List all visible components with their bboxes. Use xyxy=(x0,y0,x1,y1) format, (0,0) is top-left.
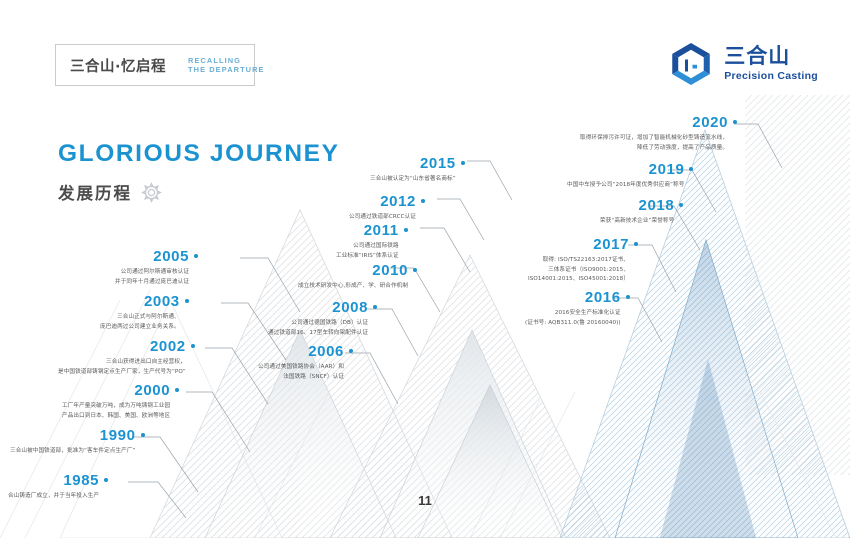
timeline-entry-2019[interactable]: 2019 中国中车授予公司“2018年度优秀供应商”称号 xyxy=(567,162,693,191)
timeline-marker-dot xyxy=(679,203,683,207)
timeline-description: 工厂年产量突破万吨，成为万吨铸钢工业园 产品出口到日本、韩国、美国、欧洲等地区 xyxy=(62,402,170,422)
badge-en-line1: RECALLING xyxy=(188,56,265,65)
timeline-entry-2006[interactable]: 2006 公司通过美国铁路协会（AAR）和 法国铁路（SNCF）认证 xyxy=(258,344,353,382)
page-title-en: GLORIOUS JOURNEY xyxy=(58,140,340,168)
timeline-body: 2017 取得: ISO/TS22163:2017证书、 三体系证书（ISO90… xyxy=(528,237,629,285)
timeline-marker-dot xyxy=(191,344,195,348)
timeline-description: 三合山正式与阿尔斯通、 庞巴迪两过公司建立业务关系。 xyxy=(100,313,180,333)
timeline-marker-dot xyxy=(626,295,630,299)
timeline-description: 2016安全生产标准化认证 (证书号: AQB311.0(鲁 20160040)… xyxy=(525,309,621,329)
timeline-description-line: 三合山获得进出口自主经营权， xyxy=(58,358,186,368)
timeline-entry-2015[interactable]: 2015 三合山被认定为“山东省著名商标” xyxy=(370,156,465,185)
timeline-description-line: 成立技术研发中心,形成产、学、研合作机制 xyxy=(298,282,408,292)
timeline-body: 2016 2016安全生产标准化认证 (证书号: AQB311.0(鲁 2016… xyxy=(525,290,621,328)
timeline-body: 2008 公司通过德国铁路（DB）认证 通过铁道部16、17型车转向架配件认证 xyxy=(268,300,368,338)
badge-title-en: RECALLING THE DEPARTURE xyxy=(188,56,265,75)
timeline-body: 2012 公司通过铁道部CRCC认证 xyxy=(349,194,416,223)
timeline-description-line: 庞巴迪两过公司建立业务关系。 xyxy=(100,323,180,333)
timeline-description-line: 通过铁道部16、17型车转向架配件认证 xyxy=(268,329,368,339)
timeline-body: 2000 工厂年产量突破万吨，成为万吨铸钢工业园 产品出口到日本、韩国、美国、欧… xyxy=(62,383,170,421)
timeline-description: 公司通过国际铁路 工业标准“IRIS”体系认证 xyxy=(336,242,399,262)
timeline-marker-dot xyxy=(141,433,145,437)
timeline-description-line: 三合山被认定为“山东省著名商标” xyxy=(370,175,456,185)
timeline-year: 2003 xyxy=(144,294,180,310)
timeline-body: 2010 成立技术研发中心,形成产、学、研合作机制 xyxy=(298,263,408,292)
timeline-year: 2016 xyxy=(585,290,621,306)
timeline-body: 2011 公司通过国际铁路 工业标准“IRIS”体系认证 xyxy=(336,223,399,261)
timeline-marker-dot xyxy=(349,349,353,353)
timeline-description-line: 法国铁路（SNCF）认证 xyxy=(258,373,344,383)
timeline-year: 2006 xyxy=(308,344,344,360)
timeline-description-line: 取得: ISO/TS22163:2017证书、 xyxy=(528,256,629,266)
timeline-marker-dot xyxy=(373,305,377,309)
logo-name-cn: 三合山 xyxy=(724,46,818,67)
timeline-marker-dot xyxy=(194,254,198,258)
timeline-entry-1990[interactable]: 1990 三合山被中国铁道部，批准为“客车件定点生产厂” xyxy=(10,428,145,457)
timeline-description: 取得: ISO/TS22163:2017证书、 三体系证书（ISO9001:20… xyxy=(528,256,629,285)
timeline-body: 2006 公司通过美国铁路协会（AAR）和 法国铁路（SNCF）认证 xyxy=(258,344,344,382)
timeline-entry-2016[interactable]: 2016 2016安全生产标准化认证 (证书号: AQB311.0(鲁 2016… xyxy=(525,290,630,328)
timeline-entry-2011[interactable]: 2011 公司通过国际铁路 工业标准“IRIS”体系认证 xyxy=(336,223,408,261)
sanheshan-cube-logo-icon xyxy=(667,40,715,88)
timeline-description: 三合山被认定为“山东省著名商标” xyxy=(370,175,456,185)
timeline-description-line: 产品出口到日本、韩国、美国、欧洲等地区 xyxy=(62,412,170,422)
logo-name-en: Precision Casting xyxy=(724,71,818,82)
timeline-year: 2002 xyxy=(150,339,186,355)
timeline-description: 三合山被中国铁道部，批准为“客车件定点生产厂” xyxy=(10,447,136,457)
timeline-description-line: 公司通过德国铁路（DB）认证 xyxy=(268,319,368,329)
timeline-body: 1990 三合山被中国铁道部，批准为“客车件定点生产厂” xyxy=(10,428,136,457)
timeline-description-line: 公司通过国际铁路 xyxy=(336,242,399,252)
slide-page: 三合山·忆启程 RECALLING THE DEPARTURE 三合山 Prec… xyxy=(0,0,850,538)
timeline-year: 2012 xyxy=(380,194,416,210)
timeline-description-line: 荣获“高新技术企业”荣誉称号 xyxy=(600,217,674,227)
timeline-marker-dot xyxy=(175,388,179,392)
badge-en-line2: THE DEPARTURE xyxy=(188,65,265,74)
timeline-body: 2019 中国中车授予公司“2018年度优秀供应商”称号 xyxy=(567,162,684,191)
timeline-year: 1985 xyxy=(63,473,99,489)
timeline-marker-dot xyxy=(634,242,638,246)
timeline-description: 公司通过铁道部CRCC认证 xyxy=(349,213,416,223)
timeline-description-line: 降低了劳动强度，提高了产品质量。 xyxy=(580,144,728,154)
timeline-description-line: 三合山被中国铁道部，批准为“客车件定点生产厂” xyxy=(10,447,136,457)
timeline-year: 2015 xyxy=(420,156,456,172)
timeline-body: 2015 三合山被认定为“山东省著名商标” xyxy=(370,156,456,185)
timeline-description: 荣获“高新技术企业”荣誉称号 xyxy=(600,217,674,227)
timeline-year: 2020 xyxy=(692,115,728,131)
timeline-description-line: (证书号: AQB311.0(鲁 20160040)) xyxy=(525,319,621,329)
timeline-marker-dot xyxy=(185,299,189,303)
timeline-description: 公司通过阿尔斯通审核认证 并于同年十月通过庞巴迪认证 xyxy=(115,268,189,288)
company-logo: 三合山 Precision Casting xyxy=(667,40,818,88)
timeline-description-line: 2016安全生产标准化认证 xyxy=(525,309,621,319)
timeline-description: 中国中车授予公司“2018年度优秀供应商”称号 xyxy=(567,181,684,191)
timeline-description-line: 中国中车授予公司“2018年度优秀供应商”称号 xyxy=(567,181,684,191)
timeline-description-line: 公司通过阿尔斯通审核认证 xyxy=(115,268,189,278)
gear-icon xyxy=(140,181,163,204)
timeline-marker-dot xyxy=(461,161,465,165)
timeline-description-line: 并于同年十月通过庞巴迪认证 xyxy=(115,278,189,288)
timeline-marker-dot xyxy=(404,228,408,232)
section-heading: GLORIOUS JOURNEY 发展历程 xyxy=(58,140,340,204)
timeline-entry-2008[interactable]: 2008 公司通过德国铁路（DB）认证 通过铁道部16、17型车转向架配件认证 xyxy=(268,300,377,338)
timeline-entry-2002[interactable]: 2002 三合山获得进出口自主经营权， 是中国铁道部铸钢定点生产厂家，生产代号为… xyxy=(58,339,195,377)
timeline-marker-dot xyxy=(733,120,737,124)
badge-title-cn: 三合山·忆启程 xyxy=(70,55,166,76)
timeline-description-line: 工业标准“IRIS”体系认证 xyxy=(336,252,399,262)
timeline-year: 2018 xyxy=(639,198,675,214)
timeline-year: 1990 xyxy=(100,428,136,444)
timeline-year: 2005 xyxy=(153,249,189,265)
timeline-marker-dot xyxy=(689,167,693,171)
timeline-year: 2017 xyxy=(593,237,629,253)
timeline-description-line: 公司通过铁道部CRCC认证 xyxy=(349,213,416,223)
slide-title-badge: 三合山·忆启程 RECALLING THE DEPARTURE xyxy=(55,44,255,86)
timeline-description-line: 三合山正式与阿尔斯通、 xyxy=(100,313,180,323)
timeline-year: 2000 xyxy=(134,383,170,399)
timeline-entry-2000[interactable]: 2000 工厂年产量突破万吨，成为万吨铸钢工业园 产品出口到日本、韩国、美国、欧… xyxy=(62,383,179,421)
timeline-entry-2005[interactable]: 2005 公司通过阿尔斯通审核认证 并于同年十月通过庞巴迪认证 xyxy=(115,249,198,287)
timeline-entry-2003[interactable]: 2003 三合山正式与阿尔斯通、 庞巴迪两过公司建立业务关系。 xyxy=(100,294,189,332)
timeline-description-line: 取得环保排污许可证，增加了智能机械化砂型铸造流水线， xyxy=(580,134,728,144)
timeline-description: 公司通过德国铁路（DB）认证 通过铁道部16、17型车转向架配件认证 xyxy=(268,319,368,339)
timeline-description: 三合山获得进出口自主经营权， 是中国铁道部铸钢定点生产厂家，生产代号为“PO” xyxy=(58,358,186,378)
timeline-description: 成立技术研发中心,形成产、学、研合作机制 xyxy=(298,282,408,292)
timeline-entry-2018[interactable]: 2018 荣获“高新技术企业”荣誉称号 xyxy=(600,198,683,227)
timeline-entry-2020[interactable]: 2020 取得环保排污许可证，增加了智能机械化砂型铸造流水线， 降低了劳动强度，… xyxy=(580,115,737,153)
timeline-year: 2011 xyxy=(364,223,399,239)
timeline-body: 2020 取得环保排污许可证，增加了智能机械化砂型铸造流水线， 降低了劳动强度，… xyxy=(580,115,728,153)
page-title-cn-row: 发展历程 xyxy=(58,180,340,204)
timeline-description-line: ISO14001:2015、ISO45001:2018） xyxy=(528,275,629,285)
timeline-marker-dot xyxy=(421,199,425,203)
timeline-body: 2003 三合山正式与阿尔斯通、 庞巴迪两过公司建立业务关系。 xyxy=(100,294,180,332)
timeline-entry-2017[interactable]: 2017 取得: ISO/TS22163:2017证书、 三体系证书（ISO90… xyxy=(528,237,638,285)
logo-text-block: 三合山 Precision Casting xyxy=(724,46,818,82)
timeline-description-line: 公司通过美国铁路协会（AAR）和 xyxy=(258,363,344,373)
timeline-year: 2010 xyxy=(372,263,408,279)
timeline-body: 2005 公司通过阿尔斯通审核认证 并于同年十月通过庞巴迪认证 xyxy=(115,249,189,287)
timeline-entry-2010[interactable]: 2010 成立技术研发中心,形成产、学、研合作机制 xyxy=(298,263,417,292)
timeline-marker-dot xyxy=(413,268,417,272)
timeline-description: 公司通过美国铁路协会（AAR）和 法国铁路（SNCF）认证 xyxy=(258,363,344,383)
timeline-description: 取得环保排污许可证，增加了智能机械化砂型铸造流水线， 降低了劳动强度，提高了产品… xyxy=(580,134,728,154)
timeline-year: 2019 xyxy=(649,162,685,178)
timeline-description-line: 是中国铁道部铸钢定点生产厂家，生产代号为“PO” xyxy=(58,368,186,378)
page-title-cn: 发展历程 xyxy=(58,180,132,204)
timeline-body: 2018 荣获“高新技术企业”荣誉称号 xyxy=(600,198,674,227)
timeline-marker-dot xyxy=(104,478,108,482)
timeline-entry-2012[interactable]: 2012 公司通过铁道部CRCC认证 xyxy=(349,194,425,223)
timeline-body: 2002 三合山获得进出口自主经营权， 是中国铁道部铸钢定点生产厂家，生产代号为… xyxy=(58,339,186,377)
timeline-year: 2008 xyxy=(332,300,368,316)
timeline-description-line: 工厂年产量突破万吨，成为万吨铸钢工业园 xyxy=(62,402,170,412)
page-number: 11 xyxy=(0,493,850,508)
timeline-description-line: 三体系证书（ISO9001:2015、 xyxy=(528,266,629,276)
